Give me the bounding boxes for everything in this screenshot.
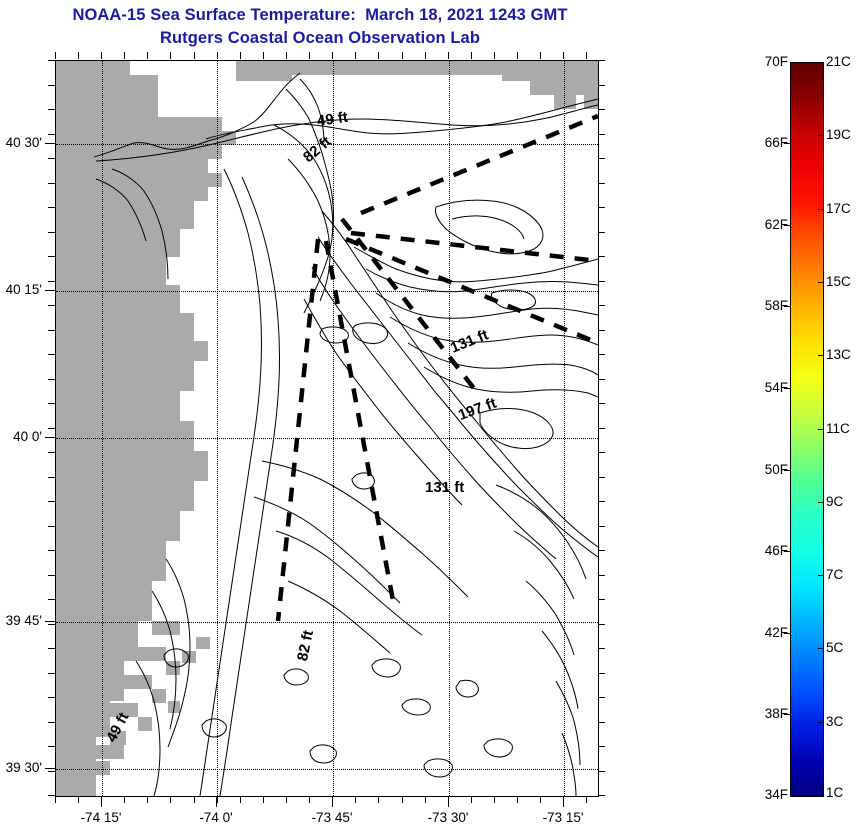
x-tick-minor-top: [378, 52, 379, 59]
x-tick-minor: [586, 796, 587, 803]
y-tick-minor: [48, 722, 55, 723]
y-tick-minor-right: [598, 746, 605, 747]
x-tick-minor-top: [263, 52, 264, 59]
cb-c-tick-17: [818, 209, 824, 210]
y-tick-minor-right: [598, 281, 605, 282]
y-tick-minor: [48, 550, 55, 551]
x-tick-minor-top: [78, 52, 79, 59]
x-tick-minor-top: [240, 52, 241, 59]
cb-f-tick-42: [784, 633, 790, 634]
y-tick-minor-right: [598, 477, 605, 478]
cb-f-label-46: 46F: [748, 543, 788, 558]
gridline-lat-40-30: [56, 144, 598, 145]
y-tick-minor-right: [598, 256, 605, 257]
x-axis-label-4: -73 30': [398, 810, 498, 825]
y-tick-minor: [48, 526, 55, 527]
y-tick-minor: [48, 330, 55, 331]
x-tick-minor-top: [170, 52, 171, 59]
y-tick-minor-right: [598, 575, 605, 576]
y-tick-minor: [48, 379, 55, 380]
y-axis-label-4: 39 45': [0, 613, 42, 628]
gridline-lat-39-30: [56, 769, 598, 770]
y-tick-minor-right: [598, 183, 605, 184]
y-tick-minor: [48, 795, 55, 796]
y-tick-minor: [48, 624, 55, 625]
cb-c-tick-11: [818, 429, 824, 430]
x-tick-minor: [540, 796, 541, 803]
x-tick-minor-top: [124, 52, 125, 59]
y-tick-minor-right: [598, 771, 605, 772]
y-tick-minor-right: [598, 158, 605, 159]
x-tick-minor: [402, 796, 403, 803]
cb-f-tick-66: [784, 143, 790, 144]
y-tick-minor: [48, 452, 55, 453]
x-axis-label-3: -73 45': [282, 810, 382, 825]
x-tick-minor-top: [332, 52, 333, 59]
cb-c-tick-5: [818, 648, 824, 649]
y-tick-minor: [48, 673, 55, 674]
x-tick-minor: [263, 796, 264, 803]
y-axis-label-3: 40 0': [0, 429, 42, 444]
y-axis-label-1: 40 30': [0, 135, 42, 150]
y-tick-minor: [48, 403, 55, 404]
gridline-lon-73-45: [333, 61, 334, 796]
y-tick-minor: [48, 183, 55, 184]
y-tick-minor: [48, 256, 55, 257]
y-tick-minor-right: [598, 648, 605, 649]
x-tick-minor: [217, 796, 218, 803]
y-tick-minor: [48, 281, 55, 282]
y-tick-minor-right: [598, 697, 605, 698]
title-line-1: NOAA-15 Sea Surface Temperature: March 1…: [0, 4, 640, 27]
y-tick-minor-right: [598, 60, 605, 61]
x-tick-minor-top: [147, 52, 148, 59]
x-tick-minor: [78, 796, 79, 803]
gridline-lat-40-0: [56, 438, 598, 439]
x-tick-minor: [471, 796, 472, 803]
y-tick-minor: [48, 648, 55, 649]
y-tick-minor-right: [598, 403, 605, 404]
x-tick-minor: [286, 796, 287, 803]
y-tick-major-1: [45, 143, 56, 144]
y-tick-minor-right: [598, 673, 605, 674]
cb-f-tick-46: [784, 551, 790, 552]
y-tick-minor-right: [598, 109, 605, 110]
x-tick-minor-top: [586, 52, 587, 59]
x-tick-minor: [147, 796, 148, 803]
depth-label-131ft-south: 131 ft: [425, 479, 464, 496]
y-tick-minor-right: [598, 599, 605, 600]
cb-c-label-1: 1C: [826, 785, 843, 800]
y-tick-minor: [48, 134, 55, 135]
y-tick-minor-right: [598, 85, 605, 86]
y-tick-minor-right: [598, 526, 605, 527]
gridline-lon-73-30: [449, 61, 450, 796]
cb-c-tick-15: [818, 282, 824, 283]
x-tick-minor: [517, 796, 518, 803]
cb-f-tick-54: [784, 388, 790, 389]
y-tick-minor: [48, 85, 55, 86]
y-axis-label-5: 39 30': [0, 760, 42, 775]
cb-f-label-34: 34F: [748, 787, 788, 802]
x-tick-minor: [355, 796, 356, 803]
cb-f-label-50: 50F: [748, 462, 788, 477]
cb-f-tick-38: [784, 714, 790, 715]
x-tick-minor: [332, 796, 333, 803]
y-tick-minor-right: [598, 330, 605, 331]
cb-c-label-7: 7C: [826, 567, 843, 582]
x-tick-minor: [55, 796, 56, 803]
cb-f-label-70: 70F: [748, 54, 788, 69]
y-tick-minor: [48, 599, 55, 600]
y-tick-minor-right: [598, 134, 605, 135]
x-tick-minor-top: [494, 52, 495, 59]
cb-f-label-62: 62F: [748, 217, 788, 232]
gridline-lon-74-15: [102, 61, 103, 796]
y-axis-label-2: 40 15': [0, 282, 42, 297]
y-tick-minor: [48, 207, 55, 208]
x-tick-minor-top: [55, 52, 56, 59]
y-tick-minor: [48, 477, 55, 478]
title-line-2: Rutgers Coastal Ocean Observation Lab: [0, 27, 640, 50]
y-tick-minor-right: [598, 452, 605, 453]
cb-c-label-3: 3C: [826, 714, 843, 729]
y-tick-minor-right: [598, 305, 605, 306]
y-tick-minor: [48, 697, 55, 698]
y-tick-minor: [48, 501, 55, 502]
x-tick-minor: [448, 796, 449, 803]
x-tick-minor-top: [194, 52, 195, 59]
y-tick-minor: [48, 232, 55, 233]
x-tick-minor: [378, 796, 379, 803]
cb-c-tick-19: [818, 135, 824, 136]
x-tick-minor: [494, 796, 495, 803]
x-tick-minor: [124, 796, 125, 803]
x-tick-minor-top: [540, 52, 541, 59]
y-tick-minor-right: [598, 624, 605, 625]
x-tick-minor: [425, 796, 426, 803]
y-tick-minor-right: [598, 550, 605, 551]
y-tick-minor-right: [598, 501, 605, 502]
cb-c-label-5: 5C: [826, 640, 843, 655]
y-tick-minor: [48, 428, 55, 429]
y-tick-minor: [48, 771, 55, 772]
y-tick-major-4: [45, 621, 56, 622]
y-tick-minor-right: [598, 207, 605, 208]
x-tick-minor-top: [101, 52, 102, 59]
x-axis-label-1: -74 15': [51, 810, 151, 825]
x-tick-minor: [240, 796, 241, 803]
x-axis-label-2: -74 0': [166, 810, 266, 825]
y-tick-major-3: [45, 437, 56, 438]
x-tick-minor-top: [425, 52, 426, 59]
cb-f-label-66: 66F: [748, 135, 788, 150]
x-tick-minor-top: [517, 52, 518, 59]
cb-f-label-42: 42F: [748, 625, 788, 640]
gridline-lat-39-45: [56, 622, 598, 623]
x-tick-minor-top: [309, 52, 310, 59]
x-axis-label-5: -73 15': [513, 810, 613, 825]
cb-c-label-21: 21C: [826, 54, 851, 69]
x-tick-minor: [101, 796, 102, 803]
y-tick-minor: [48, 109, 55, 110]
cb-f-label-38: 38F: [748, 706, 788, 721]
cb-c-label-9: 9C: [826, 494, 843, 509]
cb-f-tick-62: [784, 225, 790, 226]
cb-c-label-11: 11C: [826, 421, 850, 436]
x-tick-minor: [309, 796, 310, 803]
x-tick-minor: [170, 796, 171, 803]
cb-c-tick-7: [818, 575, 824, 576]
x-tick-minor-top: [286, 52, 287, 59]
page-title: NOAA-15 Sea Surface Temperature: March 1…: [0, 4, 640, 50]
cb-f-tick-58: [784, 306, 790, 307]
x-tick-minor-top: [217, 52, 218, 59]
cb-c-tick-3: [818, 722, 824, 723]
y-tick-minor-right: [598, 379, 605, 380]
y-tick-minor-right: [598, 722, 605, 723]
cb-c-tick-9: [818, 502, 824, 503]
cb-c-tick-13: [818, 355, 824, 356]
y-tick-minor-right: [598, 354, 605, 355]
x-tick-minor-top: [402, 52, 403, 59]
cb-c-label-15: 15C: [826, 274, 851, 289]
cb-f-label-54: 54F: [748, 380, 788, 395]
y-tick-minor: [48, 60, 55, 61]
y-tick-major-2: [45, 290, 56, 291]
cb-c-label-13: 13C: [826, 347, 851, 362]
y-tick-major-5: [45, 768, 56, 769]
cb-c-label-19: 19C: [826, 127, 851, 142]
cb-f-tick-50: [784, 470, 790, 471]
y-tick-minor-right: [598, 428, 605, 429]
y-tick-minor: [48, 354, 55, 355]
gridline-lon-74-0: [217, 61, 218, 796]
x-tick-minor: [563, 796, 564, 803]
sst-map-plot[interactable]: 49 ft 82 ft 131 ft 197 ft 131 ft 82 ft 4…: [55, 60, 599, 797]
x-tick-minor-top: [471, 52, 472, 59]
y-tick-minor: [48, 305, 55, 306]
cb-f-label-58: 58F: [748, 298, 788, 313]
x-tick-minor: [194, 796, 195, 803]
x-tick-minor-top: [355, 52, 356, 59]
cb-c-label-17: 17C: [826, 201, 851, 216]
y-tick-minor-right: [598, 232, 605, 233]
x-tick-minor-top: [563, 52, 564, 59]
gridline-lon-73-15: [564, 61, 565, 796]
y-tick-minor: [48, 158, 55, 159]
y-tick-minor: [48, 746, 55, 747]
y-tick-minor-right: [598, 795, 605, 796]
y-tick-minor: [48, 575, 55, 576]
gridline-lat-40-15: [56, 291, 598, 292]
x-tick-minor-top: [448, 52, 449, 59]
map-canvas: [56, 61, 598, 796]
